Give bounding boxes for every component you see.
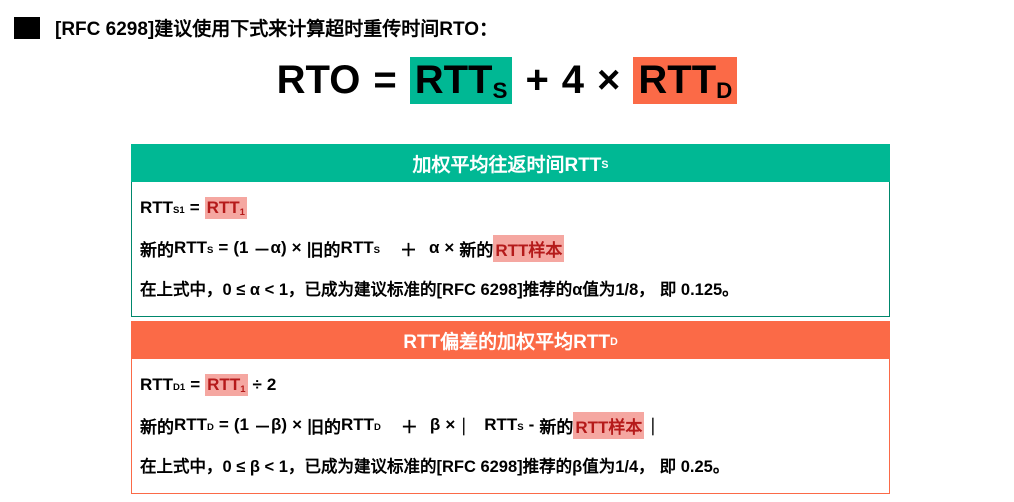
rtt-1-subscript: 1 — [240, 207, 245, 218]
beta-note-mid: 已成为建议标准的[RFC 6298]推荐的β值为 — [304, 453, 615, 477]
rtt-d1-base: RTT — [140, 375, 173, 395]
formula-plus: + — [525, 58, 548, 102]
panel-rtt-d-header-text: RTT偏差的加权平均RTT — [403, 327, 610, 354]
panel-rtt-d-header: RTT偏差的加权平均RTTD — [131, 321, 890, 359]
rtt-s1-equals: = — [190, 198, 200, 218]
beta: β — [271, 415, 281, 435]
alpha-note-range: 0 ≤ α < 1， — [223, 276, 305, 300]
rtt-d1-subscript: D1 — [173, 382, 185, 393]
rtt-d-base: RTT — [174, 415, 207, 435]
formula-term-rtt-d-base: RTT — [638, 58, 716, 102]
formula-term-rtt-s-subscript: S — [493, 78, 508, 103]
plus: ＋ — [401, 413, 418, 438]
beta-note-fraction: 1/4， — [615, 453, 654, 477]
table-row: 新的RTTD=(1－β)×旧的RTTD＋β×｜RTTS-新的RTT样本｜ — [132, 405, 889, 445]
equals: = — [218, 238, 228, 258]
beta-2: β — [430, 415, 440, 435]
rto-formula: RTO=RTTS+4×RTTD — [0, 58, 1014, 103]
alpha-note-fraction: 1/8， — [615, 276, 654, 300]
times: × — [292, 415, 302, 435]
two: 2 — [267, 375, 276, 395]
divide: ÷ — [253, 375, 262, 395]
minus: － — [254, 413, 271, 438]
table-row: RTTS1=RTT1 — [132, 188, 889, 228]
alpha-2: α — [429, 238, 439, 258]
beta-note-tail: 即 0.25。 — [660, 453, 730, 477]
rtt-d-old-base: RTT — [341, 415, 374, 435]
rtt-s1-base: RTT — [140, 198, 173, 218]
rtt-sample-highlight: RTT样本 — [573, 412, 644, 439]
times-2: × — [445, 415, 455, 435]
table-row: RTTD1=RTT1÷2 — [132, 365, 889, 405]
beta-note-prefix: 在上式中， — [140, 453, 223, 477]
rtt-1-subscript: 1 — [240, 384, 245, 395]
formula-times: × — [597, 58, 620, 102]
rtt-1-highlight: RTT1 — [205, 197, 247, 219]
table-row: 新的RTTS=(1－α)×旧的RTTS＋α×新的RTT样本 — [132, 228, 889, 268]
label-new: 新的 — [140, 236, 174, 261]
rtt-d-old-subscript: D — [374, 422, 381, 433]
dash: - — [529, 415, 535, 435]
rtt-1-highlight: RTT1 — [205, 374, 247, 396]
formula-term-rtt-s: RTTS — [410, 57, 513, 104]
label-new: 新的 — [140, 413, 174, 438]
minus: － — [253, 236, 270, 261]
rtt-s-base: RTT — [174, 238, 207, 258]
panel-rtt-s-header: 加权平均往返时间RTTS — [131, 144, 890, 182]
page-title: [RFC 6298]建议使用下式来计算超时重传时间RTO： — [55, 14, 498, 41]
equals: = — [219, 415, 229, 435]
times: × — [292, 238, 302, 258]
label-new-2: 新的 — [459, 236, 493, 261]
panel-rtt-s-header-text: 加权平均往返时间RTT — [412, 150, 601, 177]
table-row: 在上式中，0 ≤ β < 1，已成为建议标准的[RFC 6298]推荐的β值为1… — [132, 445, 889, 485]
plus: ＋ — [400, 236, 417, 261]
formula-lhs: RTO — [277, 58, 361, 102]
beta-note-range: 0 ≤ β < 1， — [223, 453, 305, 477]
alpha-note-tail: 即 0.125。 — [660, 276, 739, 300]
formula-equals: = — [373, 58, 396, 102]
rtt-d1-equals: = — [190, 375, 200, 395]
rtt-1-base: RTT — [207, 198, 240, 217]
one: 1 — [239, 238, 248, 258]
rtt-s-inner-base: RTT — [484, 415, 517, 435]
abs-bar-close: ｜ — [644, 413, 661, 438]
rtt-s1-subscript: S1 — [173, 205, 185, 216]
panel-rtt-d-body: RTTD1=RTT1÷2 新的RTTD=(1－β)×旧的RTTD＋β×｜RTTS… — [131, 359, 890, 494]
abs-bar-open: ｜ — [455, 413, 472, 438]
black-square-bullet-icon — [14, 17, 40, 39]
panel-rtt-s: 加权平均往返时间RTTS RTTS1=RTT1 新的RTTS=(1－α)×旧的R… — [131, 144, 890, 317]
panel-rtt-d: RTT偏差的加权平均RTTD RTTD1=RTT1÷2 新的RTTD=(1－β)… — [131, 321, 890, 494]
formula-coefficient: 4 — [562, 58, 584, 102]
formula-term-rtt-d: RTTD — [633, 57, 737, 104]
rtt-1-base: RTT — [207, 375, 240, 394]
times-2: × — [444, 238, 454, 258]
rparen: ) — [281, 415, 287, 435]
rparen: ) — [281, 238, 287, 258]
panel-rtt-s-body: RTTS1=RTT1 新的RTTS=(1－α)×旧的RTTS＋α×新的RTT样本… — [131, 182, 890, 317]
table-row: 在上式中，0 ≤ α < 1，已成为建议标准的[RFC 6298]推荐的α值为1… — [132, 268, 889, 308]
rtt-s-subscript: S — [207, 245, 213, 256]
label-old: 旧的 — [307, 413, 341, 438]
slide-title-row: [RFC 6298]建议使用下式来计算超时重传时间RTO： — [14, 14, 498, 41]
one: 1 — [240, 415, 249, 435]
rtt-s-old-base: RTT — [341, 238, 374, 258]
alpha-note-mid: 已成为建议标准的[RFC 6298]推荐的α值为 — [305, 276, 616, 300]
rtt-s-inner-subscript: S — [517, 422, 523, 433]
panel-rtt-d-header-subscript: D — [610, 336, 618, 348]
panel-rtt-s-header-subscript: S — [601, 159, 608, 171]
formula-term-rtt-d-subscript: D — [716, 78, 732, 103]
label-old: 旧的 — [307, 236, 341, 261]
alpha-note-prefix: 在上式中， — [140, 276, 223, 300]
rtt-d-subscript: D — [207, 422, 214, 433]
rtt-s-old-subscript: S — [374, 245, 380, 256]
alpha: α — [270, 238, 280, 258]
rtt-sample-highlight: RTT样本 — [493, 235, 564, 262]
formula-term-rtt-s-base: RTT — [415, 58, 493, 102]
label-new-2: 新的 — [539, 413, 573, 438]
